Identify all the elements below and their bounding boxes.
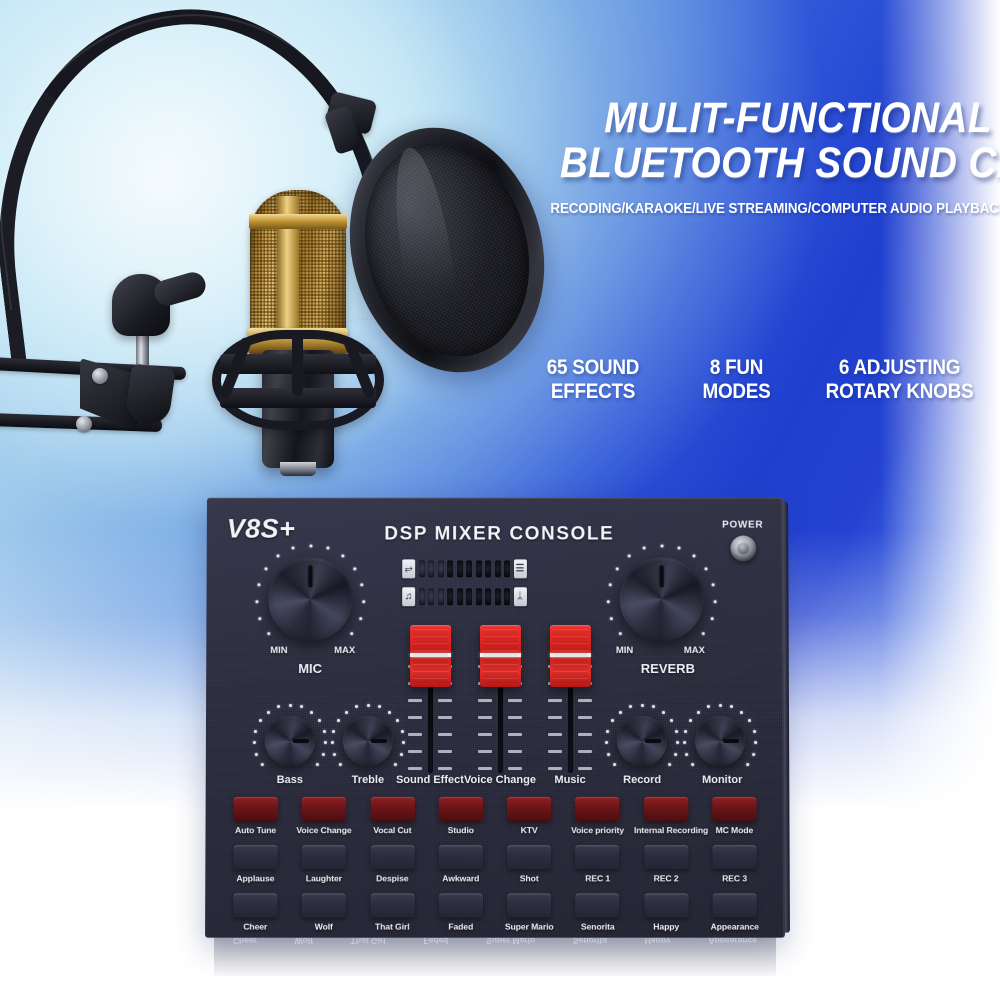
slider-sound-effect[interactable]	[404, 625, 456, 775]
knob-indicator-dot	[359, 617, 362, 620]
preset-button-label: Despise	[360, 873, 424, 883]
knob-indicator-dot	[629, 705, 632, 708]
knob-indicator-dot	[355, 705, 358, 708]
knob-indicator-dot	[670, 719, 673, 722]
mic-knob[interactable]	[268, 557, 352, 641]
knob-indicator-dot	[714, 600, 717, 603]
button-cell: Laughter	[292, 845, 356, 893]
preset-button-label: That Girl	[360, 922, 424, 932]
meter-segment	[457, 588, 463, 605]
device-title: DSP MIXER CONSOLE	[384, 524, 614, 546]
grille-top-band	[249, 214, 347, 229]
meter-segment	[476, 588, 482, 605]
button-cell: REC 3	[702, 845, 766, 893]
bass-knob-label: Bass	[256, 774, 324, 786]
knob-indicator-dot	[712, 583, 715, 586]
knob-indicator-dot	[350, 632, 353, 635]
button-grid: Auto TuneVoice ChangeVocal CutStudioKTVV…	[223, 797, 767, 942]
preset-button[interactable]	[302, 845, 346, 869]
meter-segment	[466, 560, 472, 577]
slider-tick	[548, 733, 562, 736]
slider-tick	[408, 767, 422, 770]
feature-sound-effects: 65 SOUND EFFECTS	[520, 356, 666, 403]
preset-button-label: Faded	[429, 922, 493, 932]
knob-indicator-dot	[341, 555, 344, 558]
preset-button-label: Appearance	[703, 922, 767, 932]
meter-segment	[438, 588, 444, 605]
knob-indicator-dot	[252, 741, 255, 744]
preset-button[interactable]	[233, 845, 277, 869]
meter-segment	[485, 588, 491, 605]
knob-indicator-dot	[378, 705, 381, 708]
knob-indicator-dot	[607, 753, 610, 756]
knob-indicator-dot	[740, 711, 743, 714]
knob-pointer	[308, 565, 312, 587]
slider-tick	[508, 733, 522, 736]
knob-indicator-dot	[318, 719, 321, 722]
knob-indicator-dot	[337, 719, 340, 722]
bluetooth-icon: ᛦ	[513, 587, 526, 606]
meter-segment	[438, 560, 444, 577]
meter-segment	[419, 588, 425, 605]
meter-segment	[504, 588, 510, 605]
meter-segment	[485, 560, 491, 577]
slider-tick	[508, 699, 522, 701]
meter-segment	[447, 560, 453, 577]
knob-indicator-dot	[718, 704, 721, 707]
button-cell: Faded	[429, 893, 493, 941]
music-note-icon: ♫	[402, 587, 415, 606]
knob-indicator-dot	[619, 632, 622, 635]
reverb-knob-max-label: MAX	[684, 645, 705, 656]
preset-button[interactable]	[576, 893, 620, 917]
xlr-connector	[280, 462, 316, 476]
knob-indicator-dot	[606, 730, 609, 733]
knob-indicator-dot	[322, 753, 325, 756]
knob-indicator-dot	[300, 705, 303, 708]
feature-line-1: 65 SOUND	[527, 356, 658, 380]
slider-tick	[578, 716, 592, 718]
feature-line-2: EFFECTS	[527, 380, 658, 404]
knob-indicator-dot	[662, 711, 665, 714]
slider-tick	[508, 767, 522, 770]
button-cell: Vocal Cut	[360, 797, 424, 845]
knob-indicator-dot	[755, 741, 758, 744]
preset-button[interactable]	[370, 893, 414, 917]
preset-button-label: MC Mode	[702, 825, 766, 835]
knob-indicator-dot	[339, 763, 342, 766]
slider-tick	[478, 733, 492, 736]
meter-segment	[466, 588, 472, 605]
slider-label-sound-effect: Sound Effect	[392, 774, 468, 786]
knob-indicator-dot	[277, 705, 280, 708]
slider-tick	[548, 699, 562, 701]
headline-line-2: BLUETOOTH SOUND CARD	[560, 143, 992, 184]
preset-button[interactable]	[576, 797, 620, 821]
boom-screw	[76, 416, 92, 432]
knob-indicator-dot	[677, 547, 680, 550]
preset-button[interactable]	[576, 845, 620, 869]
mic-knob-min-label: MIN	[270, 645, 287, 656]
meter-segment	[428, 588, 434, 605]
slider-tick	[438, 733, 452, 736]
knob-pointer	[660, 565, 664, 587]
feature-line-1: 6 ADJUSTING	[816, 356, 983, 380]
preset-button-label: Laughter	[292, 873, 356, 883]
preset-button-label: Voice Change	[292, 825, 356, 835]
slider-tick	[508, 750, 522, 753]
preset-button[interactable]	[712, 845, 756, 869]
button-cell: Studio	[429, 797, 493, 845]
reverb-knob[interactable]	[620, 557, 704, 641]
slider-tick	[578, 699, 592, 701]
knob-indicator-dot	[259, 617, 262, 620]
knob-indicator-dot	[610, 617, 613, 620]
monitor-knob[interactable]	[695, 716, 745, 766]
meter-segment	[428, 560, 434, 577]
preset-button[interactable]	[302, 797, 346, 821]
preset-button[interactable]	[370, 797, 414, 821]
feature-fun-modes: 8 FUN MODES	[684, 356, 789, 403]
slider-tick	[438, 716, 452, 718]
device-reflection: CheerWolfThat GirlFadedSuper MarioSenori…	[214, 936, 776, 980]
knob-indicator-dot	[326, 547, 329, 550]
preset-button-label: Vocal Cut	[360, 825, 424, 835]
knob-indicator-dot	[705, 567, 708, 570]
knob-pointer	[723, 739, 739, 743]
slider-tick	[408, 699, 422, 701]
preset-button-label: Internal Recording	[634, 825, 698, 835]
knob-indicator-dot	[683, 741, 686, 744]
knob-indicator-dot	[702, 632, 705, 635]
knob-indicator-dot	[401, 730, 404, 733]
knob-indicator-dot	[693, 555, 696, 558]
knob-indicator-dot	[396, 719, 399, 722]
meter-segment	[495, 560, 501, 577]
knob-indicator-dot	[345, 711, 348, 714]
button-cell: MC Mode	[702, 797, 766, 845]
knob-indicator-dot	[264, 567, 267, 570]
button-cell: Awkward	[429, 845, 493, 893]
preset-button-label: Studio	[429, 825, 493, 835]
mic-knob-max-label: MAX	[334, 645, 355, 656]
meter-segment	[457, 560, 463, 577]
knob-indicator-dot	[643, 547, 646, 550]
button-row: Auto TuneVoice ChangeVocal CutStudioKTVV…	[223, 797, 766, 845]
preset-button[interactable]	[712, 797, 756, 821]
meter-segment	[447, 588, 453, 605]
meter-segment	[495, 588, 501, 605]
slider-cap[interactable]	[410, 625, 451, 687]
knob-indicator-dot	[707, 705, 710, 708]
preset-button-label: KTV	[497, 825, 561, 835]
button-cell: Voice priority	[565, 797, 629, 845]
button-cell: Appearance	[703, 893, 767, 941]
preset-button-label: REC 1	[566, 873, 630, 883]
meter-row-mic: ⥂☰	[402, 559, 526, 578]
mic-knob-label: MIC	[274, 661, 346, 676]
slider-tick	[438, 767, 452, 770]
slider-label-voice-change: Voice Change	[462, 774, 538, 786]
preset-button[interactable]	[507, 797, 551, 821]
slider-cap[interactable]	[480, 625, 521, 687]
preset-button-label: Shot	[497, 873, 561, 883]
knob-indicator-dot	[677, 741, 680, 744]
knob-indicator-dot	[309, 544, 312, 547]
knob-indicator-dot	[753, 730, 756, 733]
knob-indicator-dot	[353, 567, 356, 570]
knob-indicator-dot	[746, 763, 749, 766]
preset-button-label: Awkward	[429, 873, 493, 883]
knob-indicator-dot	[660, 544, 663, 547]
slider-tick	[408, 716, 422, 718]
knob-indicator-dot	[400, 753, 403, 756]
preset-button[interactable]	[644, 797, 688, 821]
knob-indicator-dot	[697, 711, 700, 714]
button-cell: Auto Tune	[223, 797, 287, 845]
slider-tick	[478, 750, 492, 753]
preset-button[interactable]	[439, 797, 483, 821]
preset-button-label: Auto Tune	[224, 825, 288, 835]
button-cell: Happy	[634, 893, 698, 941]
slider-tick	[408, 733, 422, 736]
slider-tick	[478, 767, 492, 770]
knob-indicator-dot	[267, 711, 270, 714]
knob-indicator-dot	[254, 730, 257, 733]
knob-indicator-dot	[323, 730, 326, 733]
button-cell: That Girl	[360, 893, 424, 941]
slider-tick	[548, 767, 562, 770]
knob-pointer	[645, 739, 661, 743]
button-cell: REC 1	[566, 845, 630, 893]
slider-voice-change[interactable]	[474, 625, 526, 775]
preset-button[interactable]	[370, 845, 414, 869]
knob-indicator-dot	[402, 741, 405, 744]
dsp-mixer-console: V8S+ DSP MIXER CONSOLE POWER MIN MAX MIC…	[205, 498, 785, 938]
battery-icon: ☰	[513, 559, 526, 578]
knob-indicator-dot	[267, 632, 270, 635]
knob-indicator-dot	[361, 583, 364, 586]
knob-indicator-dot	[613, 763, 616, 766]
record-knob[interactable]	[617, 716, 667, 766]
knob-indicator-dot	[310, 711, 313, 714]
knob-indicator-dot	[363, 600, 366, 603]
treble-knob[interactable]	[343, 716, 393, 766]
slider-tick	[408, 750, 422, 753]
feature-line-2: MODES	[689, 380, 784, 404]
button-row: ApplauseLaughterDespiseAwkwardShotREC 1R…	[223, 845, 766, 893]
knob-indicator-dot	[689, 719, 692, 722]
knob-indicator-dot	[748, 719, 751, 722]
slider-label-music: Music	[536, 774, 604, 786]
preset-button-label: Happy	[634, 922, 698, 932]
slider-tick	[578, 750, 592, 753]
preset-button-label: Senorita	[566, 922, 630, 932]
preset-button[interactable]	[644, 893, 688, 917]
button-cell: Cheer	[223, 893, 287, 941]
preset-button-label: Super Mario	[497, 922, 561, 932]
scissor-boom-stand	[0, 330, 236, 510]
meter-segment	[419, 560, 425, 577]
button-cell: Despise	[360, 845, 424, 893]
product-photo	[0, 0, 560, 560]
button-cell: Shot	[497, 845, 561, 893]
boom-screw	[92, 368, 108, 384]
feature-callouts: 65 SOUND EFFECTS 8 FUN MODES 6 ADJUSTING…	[520, 356, 992, 403]
knob-indicator-dot	[668, 763, 671, 766]
knob-pointer	[293, 739, 309, 743]
shock-mount	[212, 330, 384, 430]
knob-indicator-dot	[332, 730, 335, 733]
button-cell: REC 2	[634, 845, 698, 893]
record-knob-label: Record	[608, 774, 676, 786]
knob-indicator-dot	[710, 617, 713, 620]
knob-indicator-dot	[330, 741, 333, 744]
knob-indicator-dot	[619, 711, 622, 714]
knob-indicator-dot	[289, 704, 292, 707]
knob-pointer	[371, 739, 387, 743]
preset-button-label: Cheer	[223, 922, 287, 932]
button-row: CheerWolfThat GirlFadedSuper MarioSenori…	[223, 893, 767, 941]
slider-tick	[548, 716, 562, 718]
reverb-knob-label: REVERB	[620, 661, 716, 676]
microphone-icon: ⥂	[402, 559, 415, 578]
knob-indicator-dot	[640, 704, 643, 707]
marketing-text: MULIT-FUNCTIONAL BLUETOOTH SOUND CARD RE…	[512, 98, 992, 217]
knob-indicator-dot	[674, 753, 677, 756]
headline-line-1: MULIT-FUNCTIONAL	[560, 98, 992, 139]
preset-button[interactable]	[233, 893, 277, 917]
knob-indicator-dot	[675, 730, 678, 733]
button-cell: Wolf	[292, 893, 356, 941]
button-cell: Senorita	[566, 893, 630, 941]
feature-line-2: ROTARY KNOBS	[816, 380, 983, 404]
knob-indicator-dot	[324, 741, 327, 744]
preset-button[interactable]	[302, 893, 346, 917]
button-cell: Super Mario	[497, 893, 561, 941]
knob-indicator-dot	[691, 763, 694, 766]
meter-row-music: ♫ᛦ	[402, 587, 526, 606]
knob-indicator-dot	[257, 583, 260, 586]
knob-indicator-dot	[394, 763, 397, 766]
preset-button[interactable]	[234, 797, 278, 821]
button-cell: Voice Change	[292, 797, 356, 845]
preset-button[interactable]	[439, 893, 483, 917]
feature-line-1: 8 FUN	[689, 356, 784, 380]
slider-tick	[478, 699, 492, 701]
knob-indicator-dot	[611, 719, 614, 722]
knob-indicator-dot	[730, 705, 733, 708]
device-model-name: V8S+	[227, 514, 296, 545]
slider-music[interactable]	[544, 625, 596, 775]
slider-tick	[578, 733, 592, 736]
slider-tick	[438, 699, 452, 701]
knob-indicator-dot	[292, 547, 295, 550]
knob-indicator-dot	[628, 555, 631, 558]
power-switch[interactable]	[730, 536, 756, 562]
knob-indicator-dot	[684, 730, 687, 733]
preset-button[interactable]	[507, 845, 551, 869]
shock-mount-arm	[292, 332, 303, 396]
button-cell: Applause	[223, 845, 287, 893]
knob-indicator-dot	[388, 711, 391, 714]
slider-tick	[508, 716, 522, 718]
preset-button[interactable]	[644, 845, 688, 869]
preset-button[interactable]	[439, 845, 483, 869]
knob-indicator-dot	[333, 753, 336, 756]
slider-tick	[548, 750, 562, 753]
slider-cap[interactable]	[550, 625, 591, 687]
bass-knob[interactable]	[265, 716, 315, 766]
slider-tick	[438, 750, 452, 753]
meter-segment	[504, 560, 510, 577]
preset-button[interactable]	[507, 893, 551, 917]
slider-tick	[478, 716, 492, 718]
knob-indicator-dot	[752, 753, 755, 756]
knob-indicator-dot	[259, 719, 262, 722]
knob-indicator-dot	[606, 600, 609, 603]
meter-segment	[476, 560, 482, 577]
knob-indicator-dot	[608, 583, 611, 586]
knob-indicator-dot	[685, 753, 688, 756]
knob-indicator-dot	[616, 567, 619, 570]
knob-indicator-dot	[255, 600, 258, 603]
preset-button[interactable]	[713, 893, 757, 917]
preset-button-label: Applause	[223, 873, 287, 883]
preset-button-label: REC 2	[634, 873, 698, 883]
preset-button-label: Voice priority	[566, 825, 630, 835]
preset-button-label: Wolf	[292, 922, 356, 932]
preset-button-label: REC 3	[702, 873, 766, 883]
monitor-knob-label: Monitor	[686, 774, 758, 786]
knob-indicator-dot	[276, 555, 279, 558]
knob-indicator-dot	[255, 753, 258, 756]
button-cell: KTV	[497, 797, 561, 845]
power-label: POWER	[722, 520, 763, 531]
feature-rotary-knobs: 6 ADJUSTING ROTARY KNOBS	[807, 356, 992, 403]
knob-indicator-dot	[316, 763, 319, 766]
knob-indicator-dot	[367, 704, 370, 707]
slider-tick	[578, 767, 592, 770]
button-cell: Internal Recording	[634, 797, 698, 845]
knob-indicator-dot	[605, 741, 608, 744]
knob-indicator-dot	[652, 705, 655, 708]
reverb-knob-min-label: MIN	[616, 645, 633, 656]
knob-indicator-dot	[261, 763, 264, 766]
subheadline: RECODING/KARAOKE/LIVE STREAMING/COMPUTER…	[550, 201, 992, 217]
